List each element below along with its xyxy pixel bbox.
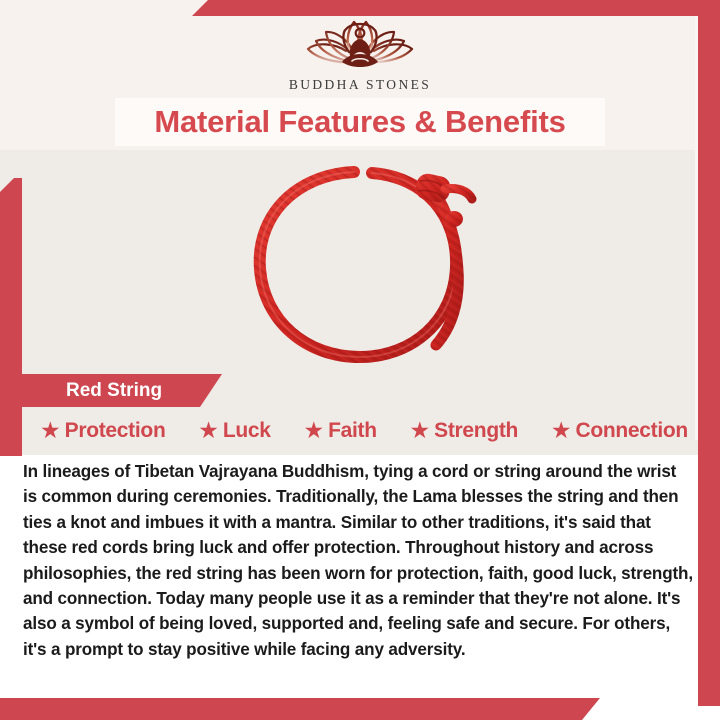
benefit-item-luck: ★ Luck xyxy=(198,419,270,443)
star-icon: ★ xyxy=(198,419,219,442)
product-name-label: Red String xyxy=(66,380,162,402)
red-string-bracelet-image xyxy=(230,159,490,369)
description-text: In lineages of Tibetan Vajrayana Buddhis… xyxy=(23,459,693,662)
decor-strip-top xyxy=(192,0,720,16)
star-icon: ★ xyxy=(40,419,61,442)
benefit-label: Luck xyxy=(223,419,271,443)
page-title: Material Features & Benefits xyxy=(154,104,565,140)
benefit-item-connection: ★ Connection xyxy=(551,419,688,443)
benefit-label: Strength xyxy=(434,419,518,443)
star-icon: ★ xyxy=(551,419,572,442)
benefit-item-strength: ★ Strength xyxy=(410,419,519,443)
benefit-item-faith: ★ Faith xyxy=(303,419,376,443)
decor-strip-right xyxy=(698,0,720,706)
decor-strip-left xyxy=(0,178,22,456)
benefit-item-protection: ★ Protection xyxy=(40,419,165,443)
benefit-label: Connection xyxy=(575,419,688,443)
benefit-label: Faith xyxy=(328,419,377,443)
star-icon: ★ xyxy=(410,419,431,442)
star-icon: ★ xyxy=(303,419,324,442)
benefit-label: Protection xyxy=(65,419,166,443)
infographic-poster: BUDDHA STONES Material Features & Benefi… xyxy=(0,0,720,720)
benefits-list: ★ Protection ★ Luck ★ Faith ★ Strength ★… xyxy=(40,419,688,443)
brand-name: BUDDHA STONES xyxy=(289,77,431,93)
brand-logo: BUDDHA STONES xyxy=(0,16,720,93)
title-banner: Material Features & Benefits xyxy=(115,98,605,146)
lotus-meditation-icon xyxy=(302,16,418,72)
product-photo xyxy=(22,150,698,378)
product-name-tag: Red String xyxy=(22,374,222,407)
decor-strip-bottom xyxy=(0,698,600,720)
